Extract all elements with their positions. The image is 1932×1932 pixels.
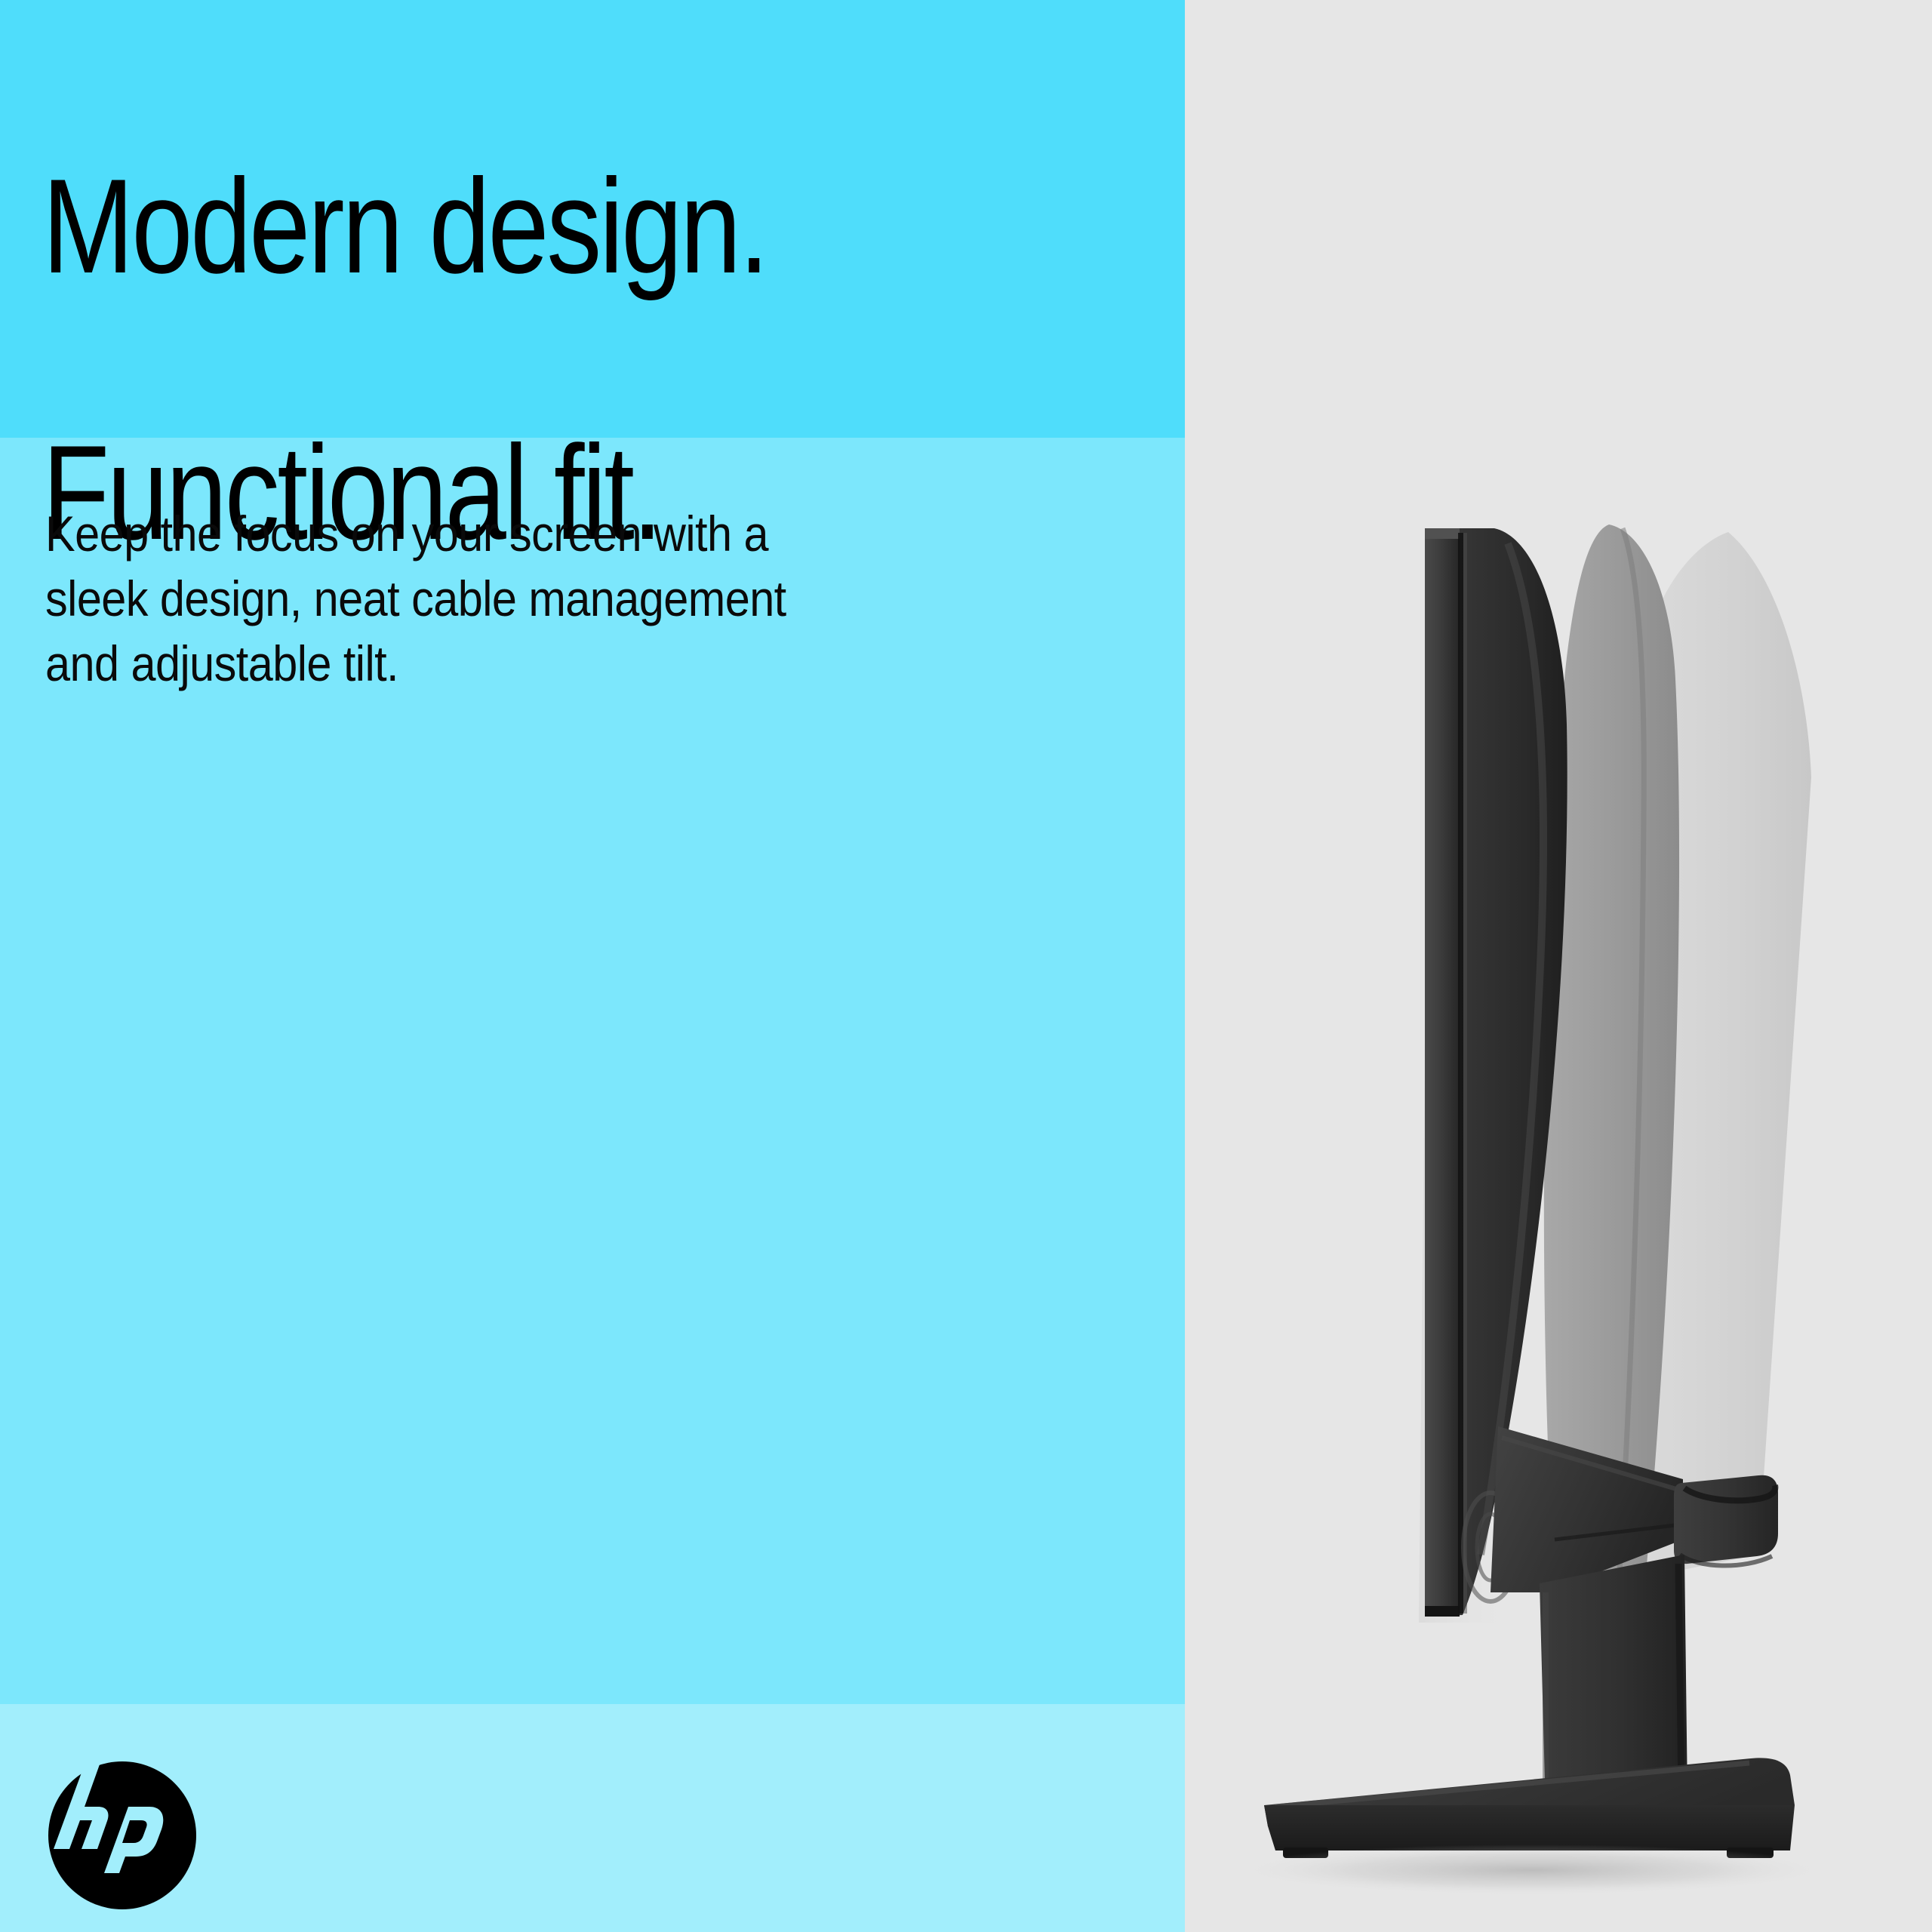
body-copy-line-1: Keep the focus on your screen with a	[45, 502, 1010, 567]
body-copy-line-3: and adjustable tilt.	[45, 632, 1010, 697]
poster-root: Modern design. Functional fit. Keep the …	[0, 0, 1932, 1932]
monitor-screen-bezel	[1425, 528, 1460, 1617]
left-content-panel: Modern design. Functional fit. Keep the …	[0, 0, 1185, 1932]
body-copy-line-2: sleek design, neat cable management	[45, 567, 1010, 632]
product-image-panel: -5~+23° tilt Cable management	[1185, 0, 1932, 1932]
hp-monitor-side-view	[1185, 0, 1932, 1932]
base-contact-shadow	[1230, 1844, 1834, 1896]
headline-line-1: Modern design.	[42, 160, 958, 293]
body-copy: Keep the focus on your screen with a sle…	[45, 502, 1010, 696]
monitor-base-side	[1264, 1805, 1795, 1850]
cable-management-ring	[1674, 1475, 1778, 1566]
hp-logo	[47, 1760, 198, 1911]
